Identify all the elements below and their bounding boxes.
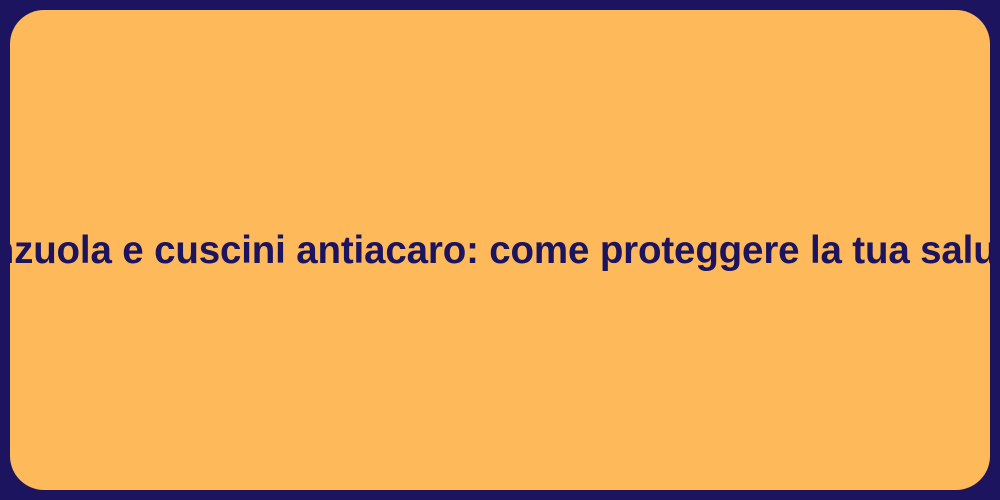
banner-headline: Lenzuola e cuscini antiacaro: come prote… xyxy=(10,228,990,273)
banner-panel: Lenzuola e cuscini antiacaro: come prote… xyxy=(10,10,990,490)
banner-frame: Lenzuola e cuscini antiacaro: come prote… xyxy=(0,0,1000,500)
